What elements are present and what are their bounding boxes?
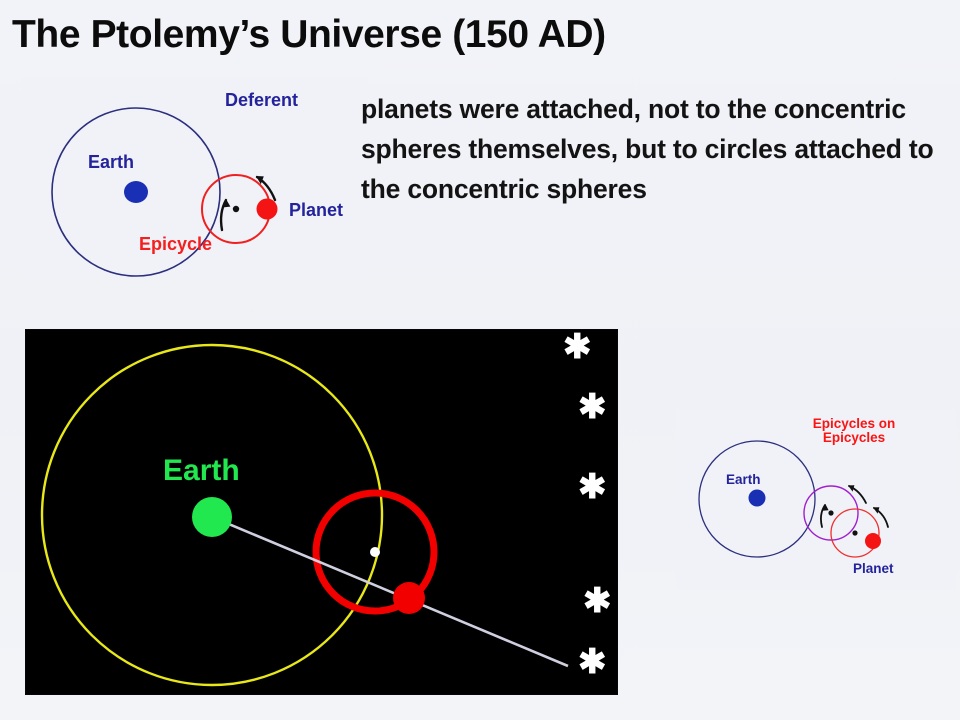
earth-dot [124,181,148,203]
epicycles-on-epicycles-title-line-1: Epicycles on [813,416,896,431]
planet-label: Planet [853,561,894,576]
planet-dot [865,533,881,549]
figure-deferent-epicycle: Deferent Earth Epicycle Planet [22,78,367,278]
epicycle-label: Epicycle [139,234,212,254]
earth-label: Earth [88,152,134,172]
epicycle-center-dot [233,206,239,212]
star-icon: ✱ [578,468,607,506]
planet-body [393,582,425,614]
earth-dot [749,490,766,507]
slide-canvas: The Ptolemy’s Universe (150 AD) [0,0,960,720]
earth-label-green: Earth [163,454,240,487]
earth-body [192,497,232,537]
body-paragraph: planets were attached, not to the concen… [361,89,960,209]
deferent-label: Deferent [225,90,298,110]
earth-label: Earth [726,472,761,487]
figure-background [676,410,956,590]
epicycles-on-epicycles-svg: Epicycles on Epicycles Earth Planet [676,410,956,590]
epicycles-on-epicycles-title-line-2: Epicycles [823,430,885,445]
epicycle-center-dot-white [370,547,380,557]
planet-label: Planet [289,200,343,220]
star-icon: ✱ [563,330,592,366]
figure-ptolemaic-animation: Earth ✱ ✱ ✱ ✱ ✱ [26,330,617,694]
star-icon: ✱ [578,643,607,681]
epicycle-primary-center-dot [828,510,833,515]
star-icon: ✱ [583,582,612,620]
animation-svg: Earth ✱ ✱ ✱ ✱ ✱ [26,330,617,694]
epicycle-secondary-center-dot [852,530,857,535]
deferent-epicycle-svg: Deferent Earth Epicycle Planet [22,78,367,278]
star-icon: ✱ [578,388,607,426]
planet-dot [257,199,278,220]
figure-epicycles-on-epicycles: Epicycles on Epicycles Earth Planet [676,410,956,590]
page-title: The Ptolemy’s Universe (150 AD) [12,12,942,58]
